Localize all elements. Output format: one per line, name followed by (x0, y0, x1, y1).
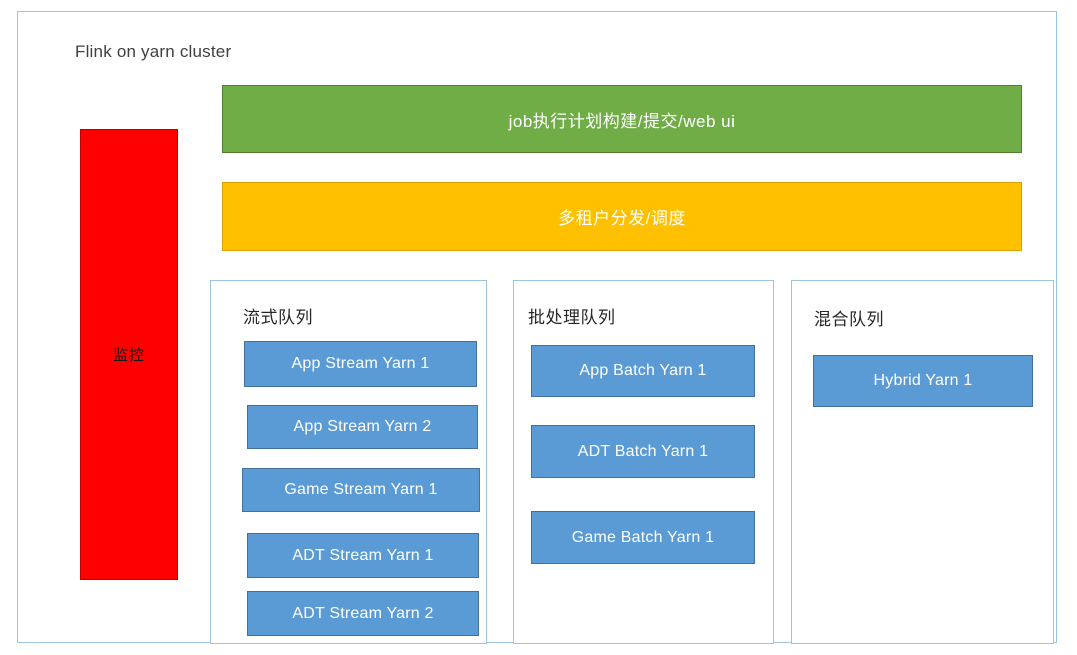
yarn-node-adt-stream-2: ADT Stream Yarn 2 (247, 591, 479, 636)
monitoring-label: 监控 (113, 344, 145, 365)
queue-column-streaming: 流式队列 App Stream Yarn 1 App Stream Yarn 2… (210, 280, 487, 644)
queue-column-batch: 批处理队列 App Batch Yarn 1 ADT Batch Yarn 1 … (513, 280, 774, 644)
yarn-node-adt-batch-1: ADT Batch Yarn 1 (531, 425, 755, 478)
job-execution-banner: job执行计划构建/提交/web ui (222, 85, 1022, 153)
yarn-node-label: App Stream Yarn 2 (294, 418, 432, 436)
queue-title-hybrid: 混合队列 (814, 305, 884, 330)
monitoring-bar: 监控 (80, 129, 178, 580)
diagram-canvas: Flink on yarn cluster 监控 job执行计划构建/提交/we… (0, 0, 1077, 655)
yarn-node-app-stream-2: App Stream Yarn 2 (247, 405, 478, 449)
yarn-node-app-batch-1: App Batch Yarn 1 (531, 345, 755, 397)
yarn-node-app-stream-1: App Stream Yarn 1 (244, 341, 477, 387)
multi-tenant-scheduling-banner: 多租户分发/调度 (222, 182, 1022, 251)
multi-tenant-scheduling-banner-label: 多租户分发/调度 (558, 204, 686, 229)
queue-title-streaming: 流式队列 (243, 303, 313, 328)
yarn-node-label: Game Stream Yarn 1 (284, 481, 437, 499)
yarn-node-label: App Stream Yarn 1 (292, 355, 430, 373)
flink-cluster-frame: Flink on yarn cluster 监控 job执行计划构建/提交/we… (17, 11, 1057, 643)
queue-title-batch: 批处理队列 (528, 303, 616, 328)
job-execution-banner-label: job执行计划构建/提交/web ui (509, 107, 736, 132)
yarn-node-adt-stream-1: ADT Stream Yarn 1 (247, 533, 479, 578)
queue-column-hybrid: 混合队列 Hybrid Yarn 1 (791, 280, 1054, 644)
yarn-node-label: ADT Stream Yarn 1 (292, 547, 433, 565)
yarn-node-label: App Batch Yarn 1 (579, 362, 706, 380)
yarn-node-label: ADT Batch Yarn 1 (578, 443, 708, 461)
yarn-node-game-batch-1: Game Batch Yarn 1 (531, 511, 755, 564)
yarn-node-label: Game Batch Yarn 1 (572, 529, 714, 547)
cluster-title: Flink on yarn cluster (75, 42, 231, 62)
yarn-node-label: Hybrid Yarn 1 (874, 372, 973, 390)
yarn-node-label: ADT Stream Yarn 2 (292, 605, 433, 623)
yarn-node-game-stream-1: Game Stream Yarn 1 (242, 468, 480, 512)
yarn-node-hybrid-1: Hybrid Yarn 1 (813, 355, 1033, 407)
